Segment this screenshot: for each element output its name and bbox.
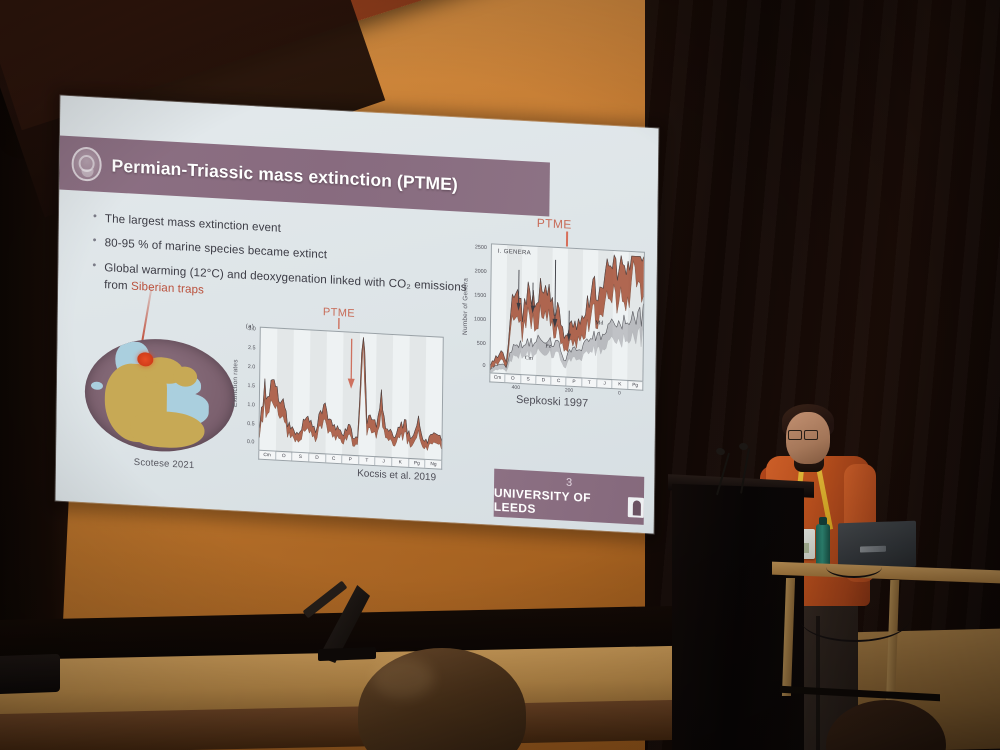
cable — [826, 556, 882, 578]
y-tick: 0 — [467, 362, 485, 369]
cable — [800, 596, 910, 642]
y-tick: 1.0 — [237, 401, 255, 408]
y-tick: 2.5 — [237, 344, 255, 351]
bullet-dot-icon: • — [93, 234, 97, 252]
y-tick: 1.5 — [237, 382, 255, 389]
institution-name: UNIVERSITY OF LEEDS — [494, 485, 623, 520]
fauna-label-cm: Cm — [525, 355, 534, 361]
chart-kocsis-extinction-rates: PTME (a) Extinction rates 3.0 2.5 2.0 1.… — [232, 301, 444, 484]
plot-area — [258, 327, 443, 461]
x-tick: 0 — [618, 390, 621, 396]
x-tick: 200 — [565, 387, 573, 393]
figure-paleomap: Scotese 2021 — [84, 335, 246, 474]
glasses-icon — [788, 430, 818, 438]
ptme-arrow-icon — [259, 328, 442, 462]
x-tick: 400 — [512, 385, 520, 391]
projection-screen: Permian-Triassic mass extinction (PTME) … — [56, 96, 659, 534]
y-tick: 2.0 — [237, 363, 255, 370]
ptme-arrow-icon: Cm Pz Md — [490, 244, 644, 382]
siberian-traps-hotspot-icon — [137, 352, 153, 367]
floor-speaker-cabinet — [0, 654, 60, 694]
leeds-owl-logo-icon — [628, 497, 644, 518]
bullet-dot-icon: • — [92, 258, 96, 293]
y-tick: 500 — [468, 340, 486, 347]
conference-photo-scene: Permian-Triassic mass extinction (PTME) … — [0, 0, 1000, 750]
y-tick: 1000 — [468, 316, 486, 323]
y-tick: 2500 — [469, 244, 487, 251]
chart-sepkoski-genera: PTME Number of Genera 2500 2000 1500 100… — [461, 212, 645, 413]
bullet-text: 80-95 % of marine species became extinct — [105, 234, 328, 264]
fauna-label-pz: Pz — [545, 343, 551, 349]
y-tick: 3.0 — [238, 325, 256, 332]
pangaea-globe — [84, 335, 235, 455]
institution-row: UNIVERSITY OF LEEDS — [494, 485, 644, 521]
y-tick: 1500 — [468, 292, 486, 299]
stage-monitor-base — [318, 647, 376, 661]
page-title: Permian-Triassic mass extinction (PTME) — [112, 155, 459, 195]
bullet-dot-icon: • — [93, 209, 97, 227]
plot-area: I. GENERA Cm — [489, 243, 645, 381]
laptop-logo-icon — [860, 546, 886, 553]
y-tick: 0.5 — [237, 420, 255, 427]
ocean-shape — [91, 381, 103, 390]
y-axis-label: Number of Genera — [462, 278, 470, 335]
slide-footer: 3 UNIVERSITY OF LEEDS — [494, 469, 645, 525]
fauna-label-md: Md — [595, 320, 603, 326]
slide-number: 3 — [566, 476, 572, 488]
presentation-slide: Permian-Triassic mass extinction (PTME) … — [56, 96, 659, 534]
university-crest-icon — [71, 146, 101, 182]
y-tick: 2000 — [469, 268, 487, 275]
pangaea-landmass — [173, 366, 197, 387]
siberian-traps-link: Siberian traps — [131, 280, 204, 297]
y-tick: 0.0 — [236, 438, 254, 445]
